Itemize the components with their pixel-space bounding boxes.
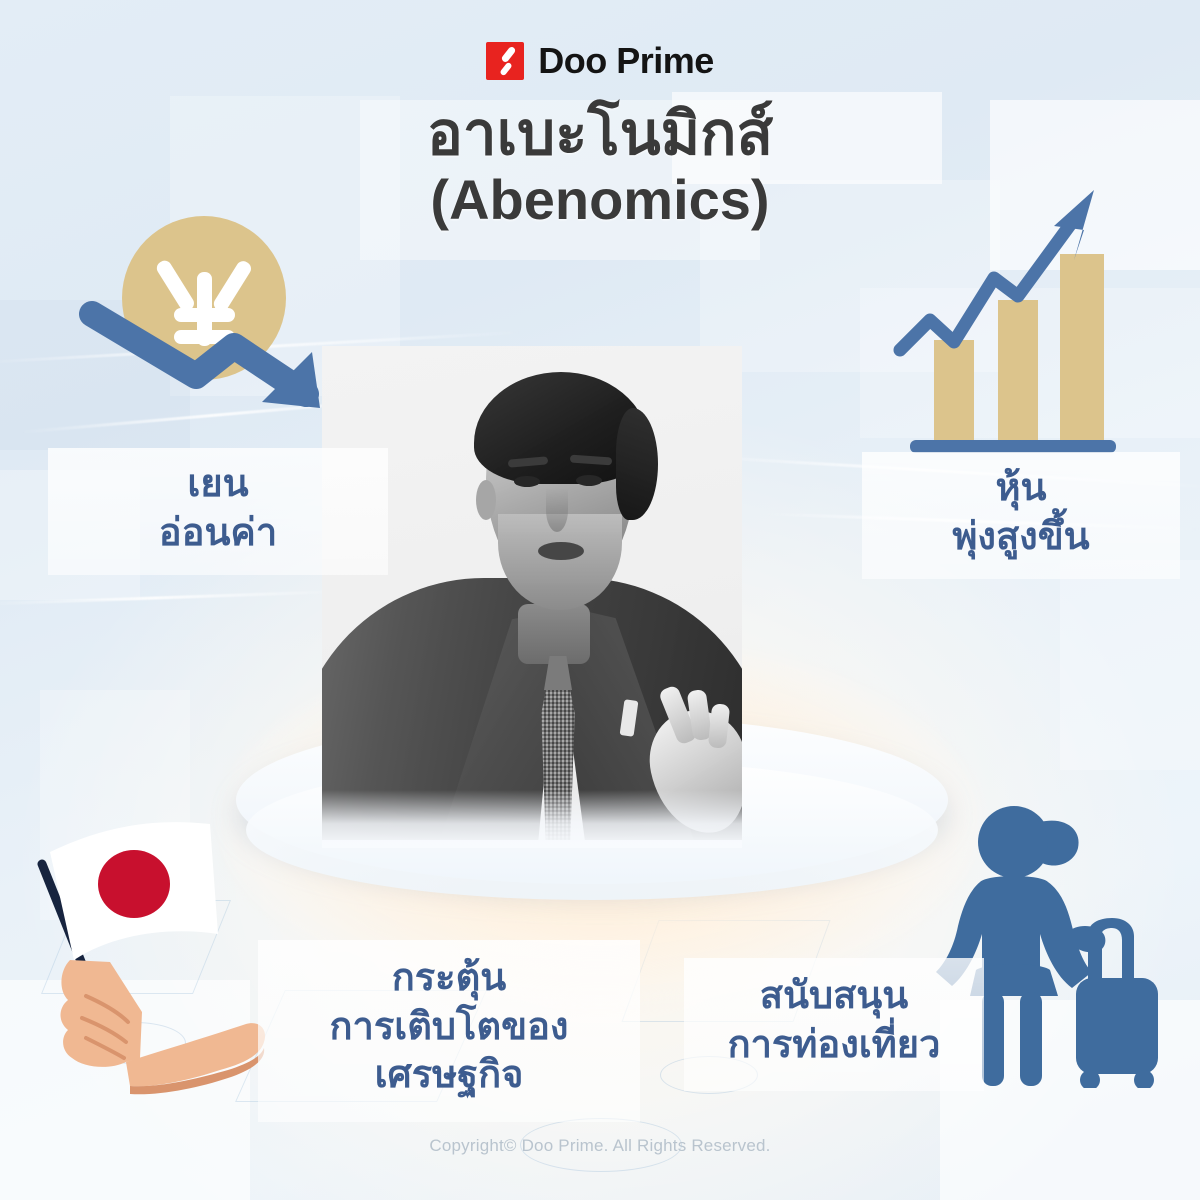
center-portrait <box>322 346 742 840</box>
chart-bar-3 <box>1060 254 1104 444</box>
chart-bar-1 <box>934 340 974 444</box>
infographic-canvas: Doo Prime อาเบะโนมิกส์ (Abenomics) <box>0 0 1200 1200</box>
brand-header: Doo Prime <box>0 40 1200 82</box>
suitcase-handle <box>1088 918 1134 980</box>
suitcase-body <box>1076 978 1158 1074</box>
hand-holding-japan-flag-icon <box>14 812 280 1104</box>
copyright-footer: Copyright© Doo Prime. All Rights Reserve… <box>0 1136 1200 1156</box>
shinzo-abe-portrait-image <box>322 346 742 840</box>
caption-economic-growth: กระตุ้น การเติบโตของ เศรษฐกิจ <box>258 940 640 1122</box>
bg-streak <box>0 590 350 606</box>
rising-bar-chart-icon <box>888 178 1138 460</box>
bg-panel <box>1060 560 1200 770</box>
caption-line: เศรษฐกิจ <box>258 1051 640 1100</box>
caption-line: เยน <box>48 460 388 509</box>
doo-prime-logo-icon <box>486 42 524 80</box>
chart-trend-line <box>900 214 1078 350</box>
caption-line: กระตุ้น <box>258 954 640 1003</box>
title-thai: อาเบะโนมิกส์ <box>0 100 1200 168</box>
traveler-head <box>978 806 1050 878</box>
caption-line: อ่อนค่า <box>48 509 388 558</box>
traveler-leg-right <box>1020 992 1042 1086</box>
caption-line: พุ่งสูงขึ้น <box>862 513 1180 562</box>
caption-stocks-up: หุ้น พุ่งสูงขึ้น <box>862 452 1180 579</box>
yen-coin-down-arrow-icon <box>64 196 344 440</box>
caption-line: การเติบโตของ <box>258 1003 640 1052</box>
caption-line: การท่องเที่ยว <box>684 1021 984 1070</box>
forearm <box>126 1023 265 1086</box>
portrait-base-fade <box>322 790 742 848</box>
chart-bar-2 <box>998 300 1038 444</box>
caption-line: หุ้น <box>862 464 1180 513</box>
hand-fist <box>61 960 143 1067</box>
flag-sun <box>98 850 170 918</box>
caption-weak-yen: เยน อ่อนค่า <box>48 448 388 575</box>
brand-name: Doo Prime <box>538 40 714 82</box>
caption-line: สนับสนุน <box>684 972 984 1021</box>
traveler-leg-left <box>982 992 1004 1086</box>
caption-tourism: สนับสนุน การท่องเที่ยว <box>684 958 984 1091</box>
